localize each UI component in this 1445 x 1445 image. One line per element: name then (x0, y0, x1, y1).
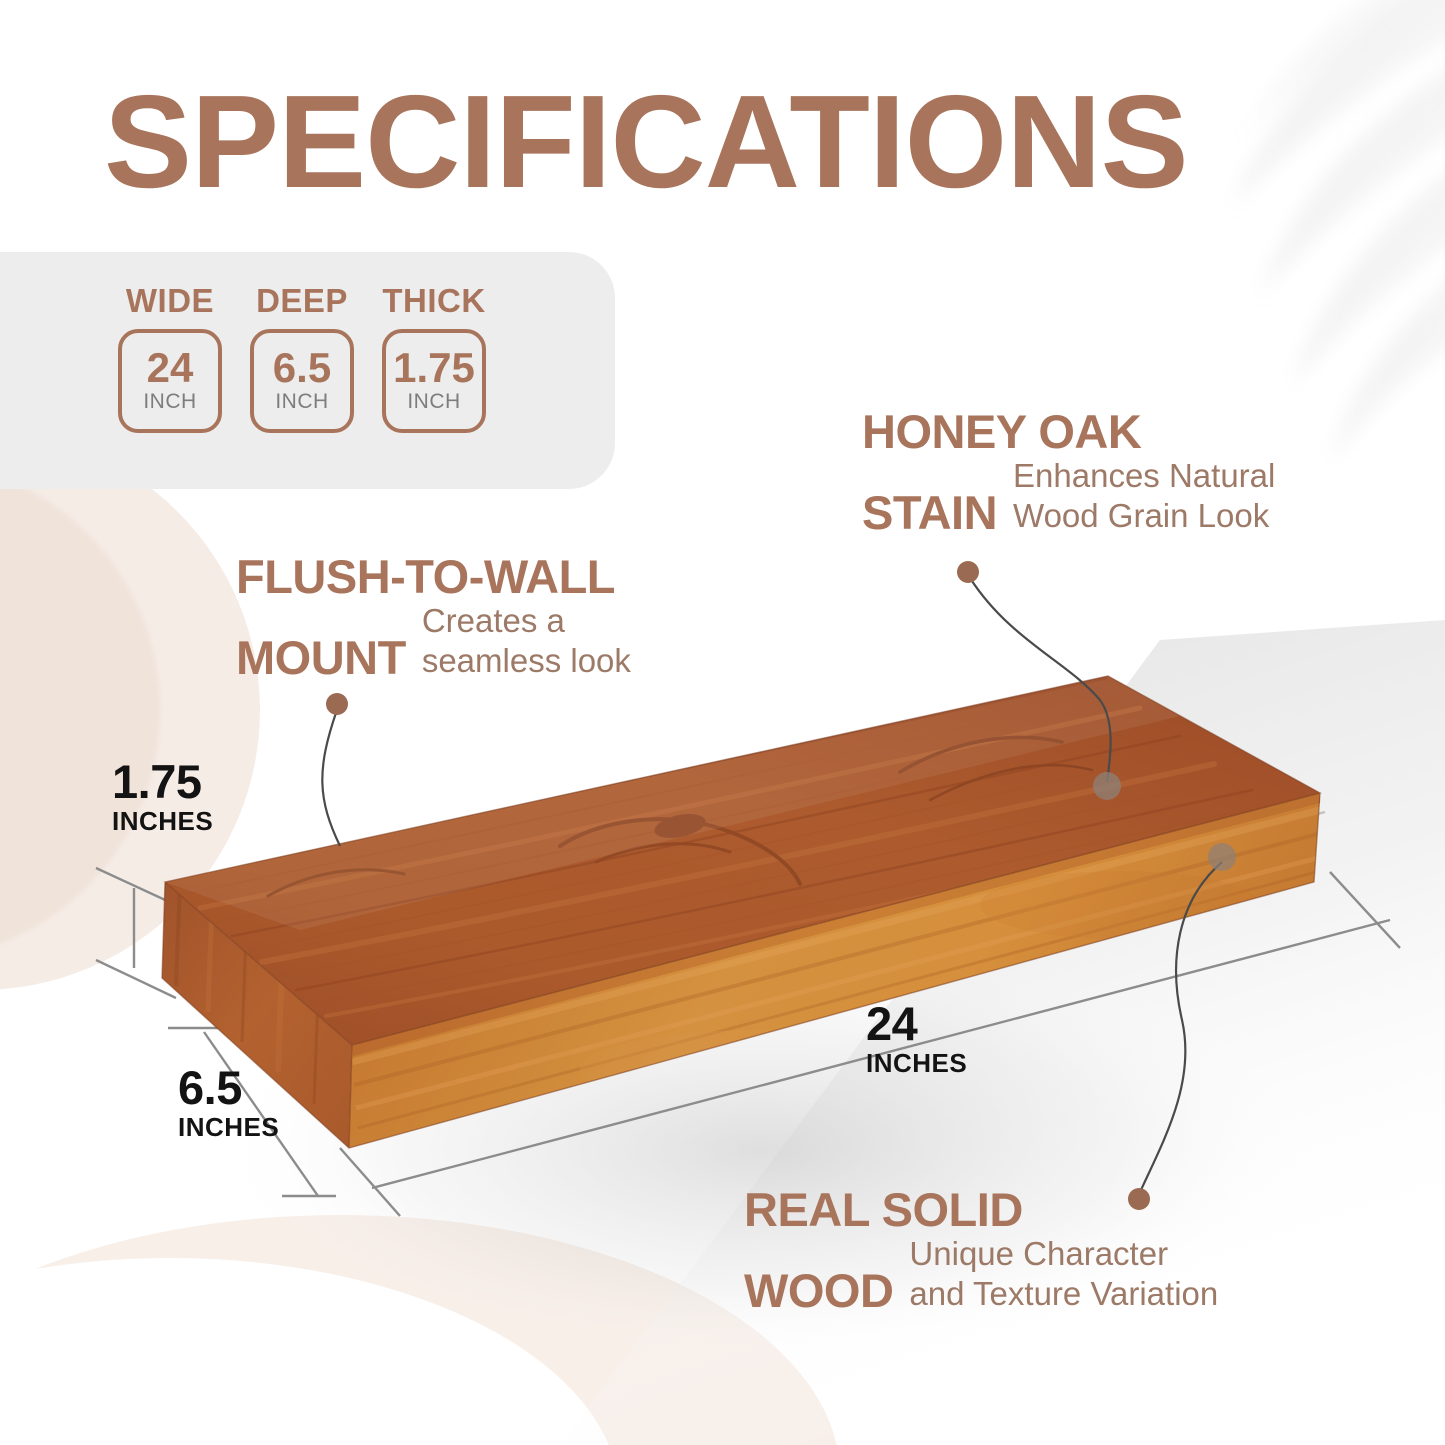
dimension-value-depth: 6.5 (178, 1064, 279, 1111)
dimension-value-thickness: 1.75 (112, 758, 213, 805)
infographic-page: SPECIFICATIONS WIDE 24 INCH DEEP 6.5 INC… (0, 0, 1445, 1445)
dimension-label-depth: 6.5 INCHES (178, 1064, 279, 1145)
spec-box-thick: 1.75 INCH (382, 329, 486, 433)
callout-flush-sub-line2: seamless look (422, 642, 631, 683)
callout-honey-sub-line1: Enhances Natural (1013, 457, 1275, 498)
dimension-label-width: 24 INCHES (866, 1000, 967, 1081)
page-title: SPECIFICATIONS (104, 76, 1188, 208)
callout-honey-heading-line1: HONEY OAK (862, 408, 1275, 457)
callout-flush-sub-line1: Creates a (422, 602, 631, 643)
spec-item-thick: THICK 1.75 INCH (382, 282, 486, 433)
spec-list: WIDE 24 INCH DEEP 6.5 INCH THICK 1.75 IN… (118, 282, 486, 433)
spec-unit-thick: INCH (407, 389, 460, 415)
spec-value-thick: 1.75 (393, 347, 475, 389)
callout-real-solid-wood: REAL SOLID WOOD Unique Character and Tex… (744, 1186, 1218, 1316)
spec-label-wide: WIDE (126, 282, 214, 320)
spec-item-deep: DEEP 6.5 INCH (250, 282, 354, 433)
callout-honey-oak-stain: HONEY OAK STAIN Enhances Natural Wood Gr… (862, 408, 1275, 538)
spec-value-wide: 24 (147, 347, 194, 389)
leader-line-flush (322, 710, 340, 846)
spec-unit-wide: INCH (143, 389, 196, 415)
spec-value-deep: 6.5 (273, 347, 331, 389)
product-scene (0, 0, 1445, 1445)
callout-wood-sub-line1: Unique Character (909, 1235, 1218, 1276)
anchor-dot-honey (1093, 772, 1121, 800)
spec-item-wide: WIDE 24 INCH (118, 282, 222, 433)
spec-unit-deep: INCH (275, 389, 328, 415)
callout-wood-sub-line2: and Texture Variation (909, 1275, 1218, 1316)
spec-box-wide: 24 INCH (118, 329, 222, 433)
callout-honey-sub-line2: Wood Grain Look (1013, 497, 1275, 538)
leader-dot-flush (326, 693, 348, 715)
spec-label-deep: DEEP (256, 282, 348, 320)
callout-wood-heading-line1: REAL SOLID (744, 1186, 1218, 1235)
anchor-dot-wood (1208, 843, 1236, 871)
dimension-value-width: 24 (866, 1000, 967, 1047)
dimension-unit-thickness: INCHES (112, 805, 213, 839)
callout-flush-heading-line2: MOUNT (236, 634, 406, 683)
dimension-unit-width: INCHES (866, 1047, 967, 1081)
callout-honey-heading-line2: STAIN (862, 489, 997, 538)
spec-label-thick: THICK (382, 282, 485, 320)
spec-panel: WIDE 24 INCH DEEP 6.5 INCH THICK 1.75 IN… (0, 252, 615, 489)
dimension-unit-depth: INCHES (178, 1111, 279, 1145)
callout-flush-to-wall-mount: FLUSH-TO-WALL MOUNT Creates a seamless l… (236, 553, 631, 683)
callout-flush-heading-line1: FLUSH-TO-WALL (236, 553, 631, 602)
callout-wood-heading-line2: WOOD (744, 1267, 893, 1316)
spec-box-deep: 6.5 INCH (250, 329, 354, 433)
leader-dot-honey (957, 561, 979, 583)
dimension-label-thickness: 1.75 INCHES (112, 758, 213, 839)
